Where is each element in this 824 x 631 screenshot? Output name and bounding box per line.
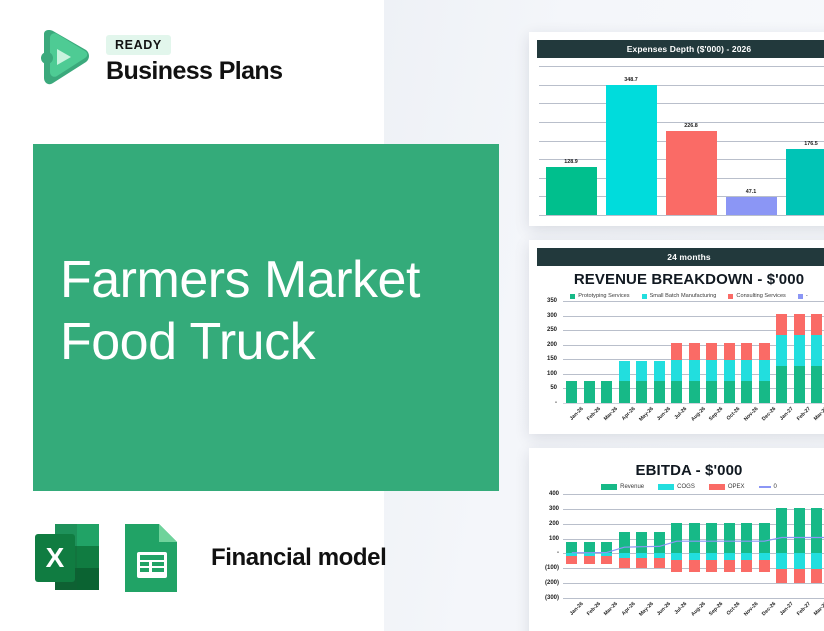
bar-value-label: 128.9 — [564, 159, 578, 165]
x-axis-tick-label: Apr-26 — [621, 601, 637, 617]
x-axis-tick-label: Sep-26 — [708, 406, 724, 422]
bar-segment — [811, 314, 822, 336]
x-axis-tick-label: May-26 — [638, 406, 655, 423]
bar-segment — [706, 553, 717, 560]
bar-segment — [759, 523, 770, 553]
legend-swatch — [759, 486, 771, 488]
legend-item: OPEX — [709, 484, 745, 490]
y-axis-tick-label: (200) — [535, 580, 559, 586]
legend-item: Small Batch Manufacturing — [642, 293, 717, 299]
gridline — [563, 598, 824, 599]
bar — [546, 167, 597, 215]
bar-column: 47.1 — [726, 66, 777, 215]
bar-segment — [619, 361, 630, 381]
legend-label: OPEX — [728, 484, 745, 490]
chart-title-ebitda: EBITDA - $'000 — [529, 462, 824, 479]
bar-column: 176.5 — [786, 66, 824, 215]
bar-value-label: 47.1 — [746, 189, 757, 195]
bar-segment — [671, 343, 682, 360]
bar-column — [759, 301, 770, 403]
svg-text:X: X — [46, 542, 65, 573]
bar-column — [759, 494, 770, 598]
x-axis-tick-label: Jan-26 — [568, 406, 584, 422]
brand-logo-group: READY Business Plans — [30, 28, 282, 90]
bar-segment — [601, 556, 612, 563]
bar-value-label: 348.7 — [624, 77, 638, 83]
bar-segment — [759, 560, 770, 572]
bar-column — [671, 494, 682, 598]
x-axis-tick-label: Mar-27 — [813, 406, 824, 422]
bar-segment — [776, 569, 787, 583]
bar-segment — [776, 335, 787, 365]
x-axis-tick-label: Mar-27 — [813, 601, 824, 617]
gridline — [539, 215, 824, 216]
bar-value-label: 176.5 — [804, 141, 818, 147]
bar-segment — [671, 560, 682, 572]
y-axis-tick-label: 300 — [535, 506, 559, 512]
bar-group: 128.9348.7226.847.1176.5 — [541, 66, 824, 215]
chart-card-ebitda: EBITDA - $'000 RevenueCOGSOPEX0 40030020… — [529, 448, 824, 631]
bar-group — [563, 301, 824, 403]
brand-name: Business Plans — [106, 58, 282, 85]
bar-column — [689, 494, 700, 598]
bar — [606, 85, 657, 215]
bar-segment — [794, 314, 805, 336]
x-axis-tick-label: Feb-26 — [586, 406, 602, 422]
bar-segment — [811, 366, 822, 403]
bar-segment — [741, 553, 752, 560]
bar-column — [794, 301, 805, 403]
legend-item: - — [798, 293, 808, 299]
bar-column — [601, 494, 612, 598]
chart-title-expenses: Expenses Depth ($'000) - 2026 — [537, 40, 824, 58]
bar-column — [584, 301, 595, 403]
bar-segment — [689, 343, 700, 360]
bar-column — [654, 301, 665, 403]
bar-segment — [724, 553, 735, 560]
bar-segment — [724, 560, 735, 572]
x-axis-tick-label: Jan-27 — [778, 406, 794, 422]
bar-segment — [654, 361, 665, 381]
bar-segment — [724, 343, 735, 360]
bar-segment — [741, 360, 752, 380]
bar — [786, 149, 824, 215]
x-axis-tick-label: Aug-26 — [691, 406, 708, 423]
y-axis-tick-label: 50 — [535, 385, 557, 391]
bar-column: 348.7 — [606, 66, 657, 215]
footer-row: X Financial model — [33, 520, 386, 596]
bar-segment — [689, 381, 700, 403]
bar-segment — [636, 558, 647, 568]
plot-area-expenses: 128.9348.7226.847.1176.5 — [535, 66, 824, 221]
chart-card-expenses: Expenses Depth ($'000) - 2026 128.9348.7… — [529, 32, 824, 226]
bar-column — [689, 301, 700, 403]
x-axis-tick-label: Feb-27 — [796, 406, 812, 422]
y-axis-tick-label: 100 — [535, 371, 557, 377]
legend-label: - — [806, 293, 808, 299]
plot-area-revenue: 35030025020015010050-Jan-26Feb-26Mar-26A… — [535, 301, 824, 429]
bar-segment — [741, 560, 752, 572]
legend-item: 0 — [759, 484, 777, 490]
bar-segment — [636, 381, 647, 403]
bar-segment — [794, 335, 805, 365]
legend-label: COGS — [677, 484, 695, 490]
google-sheets-icon — [117, 520, 187, 596]
bar-segment — [759, 343, 770, 360]
bar-segment — [671, 553, 682, 560]
bar-segment — [741, 523, 752, 553]
x-axis-tick-label: Sep-26 — [708, 601, 724, 617]
bar-column — [794, 494, 805, 598]
bar-column — [636, 301, 647, 403]
x-axis-tick-label: Aug-26 — [691, 601, 708, 618]
bar-column — [724, 494, 735, 598]
x-axis-tick-label: Jun-26 — [656, 601, 672, 617]
y-axis-tick-label: 300 — [535, 313, 557, 319]
chart-title-revenue: REVENUE BREAKDOWN - $'000 — [529, 271, 824, 288]
x-axis-tick-label: Jul-26 — [674, 406, 689, 421]
y-axis-tick-label: - — [535, 550, 559, 556]
bar-segment — [601, 381, 612, 403]
x-axis-tick-label: Oct-26 — [726, 601, 742, 617]
y-axis-tick-label: - — [535, 400, 557, 406]
y-axis-tick-label: 150 — [535, 356, 557, 362]
play-triangle-logo-icon — [30, 28, 94, 90]
bar-segment — [671, 360, 682, 380]
bar-column — [706, 301, 717, 403]
axis-baseline — [563, 403, 824, 404]
x-axis-tick-label: Jan-27 — [778, 601, 794, 617]
bar-segment — [636, 361, 647, 381]
bar-segment — [689, 523, 700, 553]
bar-segment — [724, 523, 735, 553]
y-axis-tick-label: (100) — [535, 565, 559, 571]
bar-column — [811, 494, 822, 598]
bar-segment — [776, 508, 787, 553]
page-title: Farmers Market Food Truck — [60, 249, 420, 373]
y-axis-tick-label: 400 — [535, 491, 559, 497]
bar — [666, 131, 717, 215]
bar-segment — [811, 569, 822, 583]
bar-segment — [654, 532, 665, 554]
legend-label: Prototyping Services — [578, 293, 629, 299]
legend-item: Consulting Services — [728, 293, 785, 299]
bar-segment — [584, 381, 595, 403]
bar-segment — [566, 542, 577, 553]
legend-item: Revenue — [601, 484, 644, 490]
bar-segment — [706, 381, 717, 403]
y-axis-tick-label: 200 — [535, 521, 559, 527]
x-axis-tick-label: Feb-27 — [796, 601, 812, 617]
bar-segment — [566, 556, 577, 563]
bar-column — [601, 301, 612, 403]
bar-segment — [706, 560, 717, 572]
chart-legend-ebitda: RevenueCOGSOPEX0 — [529, 484, 824, 490]
x-axis-tick-label: Feb-26 — [586, 601, 602, 617]
bar — [726, 197, 777, 215]
x-axis-tick-label: Dec-26 — [761, 601, 777, 617]
x-axis-tick-label: Mar-26 — [603, 406, 619, 422]
bar-column — [706, 494, 717, 598]
x-axis-tick-label: Jul-26 — [674, 601, 689, 616]
bar-segment — [776, 553, 787, 569]
microsoft-excel-icon: X — [33, 520, 103, 596]
bar-segment — [811, 508, 822, 553]
bar-segment — [689, 553, 700, 560]
bar-segment — [759, 553, 770, 560]
legend-swatch — [798, 294, 803, 299]
bar-segment — [601, 542, 612, 553]
legend-item: COGS — [658, 484, 695, 490]
bar-column — [584, 494, 595, 598]
legend-swatch — [709, 484, 725, 490]
bar-segment — [811, 553, 822, 569]
bar-column — [619, 301, 630, 403]
footer-label: Financial model — [211, 544, 386, 572]
x-axis-tick-label: Apr-26 — [621, 406, 637, 422]
bar-column — [741, 301, 752, 403]
plot-area-ebitda: 400300200100-(100)(200)(300)Jan-26Feb-26… — [535, 494, 824, 626]
bar-column — [671, 301, 682, 403]
bar-segment — [794, 508, 805, 553]
bar-segment — [706, 343, 717, 360]
x-axis-tick-label: Nov-26 — [743, 601, 759, 617]
bar-column — [741, 494, 752, 598]
legend-label: 0 — [774, 484, 777, 490]
brand-text-block: READY Business Plans — [106, 33, 282, 85]
bar-segment — [584, 542, 595, 553]
legend-swatch — [728, 294, 733, 299]
bar-column: 226.8 — [666, 66, 717, 215]
bar-segment — [759, 381, 770, 403]
bar-segment — [794, 553, 805, 569]
y-axis-tick-label: 350 — [535, 298, 557, 304]
x-axis-labels: Jan-26Feb-26Mar-26Apr-26May-26Jun-26Jul-… — [563, 601, 824, 607]
bar-group — [563, 494, 824, 598]
bar-segment — [776, 314, 787, 336]
bar-segment — [619, 381, 630, 403]
bar-segment — [706, 523, 717, 553]
legend-label: Consulting Services — [736, 293, 785, 299]
legend-swatch — [601, 484, 617, 490]
y-axis-tick-label: 250 — [535, 327, 557, 333]
bar-segment — [794, 366, 805, 403]
bar-column — [566, 301, 577, 403]
hero-panel: Farmers Market Food Truck — [33, 144, 499, 491]
bar-segment — [724, 360, 735, 380]
bar-column: 128.9 — [546, 66, 597, 215]
chart-card-revenue: 24 months REVENUE BREAKDOWN - $'000 Prot… — [529, 240, 824, 434]
bar-segment — [724, 381, 735, 403]
legend-swatch — [642, 294, 647, 299]
bar-segment — [741, 343, 752, 360]
bar-segment — [689, 560, 700, 572]
bar-segment — [671, 381, 682, 403]
bar-segment — [566, 381, 577, 403]
bar-segment — [689, 360, 700, 380]
y-axis-tick-label: 200 — [535, 342, 557, 348]
x-axis-tick-label: Jan-26 — [568, 601, 584, 617]
x-axis-tick-label: Dec-26 — [761, 406, 777, 422]
bar-segment — [619, 558, 630, 568]
legend-label: Small Batch Manufacturing — [650, 293, 717, 299]
x-axis-tick-label: Jun-26 — [656, 406, 672, 422]
bar-column — [776, 494, 787, 598]
bar-segment — [776, 366, 787, 403]
bar-column — [636, 494, 647, 598]
bar-column — [724, 301, 735, 403]
legend-item: Prototyping Services — [570, 293, 629, 299]
bar-segment — [811, 335, 822, 365]
bar-segment — [636, 532, 647, 554]
bar-value-label: 226.8 — [684, 123, 698, 129]
bar-segment — [654, 558, 665, 568]
bar-segment — [741, 381, 752, 403]
bar-column — [619, 494, 630, 598]
bar-segment — [619, 532, 630, 554]
y-axis-tick-label: (300) — [535, 595, 559, 601]
legend-label: Revenue — [620, 484, 644, 490]
bar-segment — [706, 360, 717, 380]
chart-legend-revenue: Prototyping ServicesSmall Batch Manufact… — [529, 293, 824, 299]
bar-segment — [671, 523, 682, 553]
bar-segment — [759, 360, 770, 380]
bar-segment — [794, 569, 805, 583]
x-axis-tick-label: May-26 — [638, 601, 655, 618]
x-axis-tick-label: Nov-26 — [743, 406, 759, 422]
slide-canvas: READY Business Plans Farmers Market Food… — [0, 0, 824, 631]
x-axis-tick-label: Oct-26 — [726, 406, 742, 422]
legend-swatch — [570, 294, 575, 299]
chart-band-revenue: 24 months — [537, 248, 824, 266]
bar-segment — [654, 381, 665, 403]
legend-swatch — [658, 484, 674, 490]
x-axis-tick-label: Mar-26 — [603, 601, 619, 617]
bar-column — [654, 494, 665, 598]
bar-column — [811, 301, 822, 403]
ready-badge: READY — [106, 35, 171, 55]
x-axis-labels: Jan-26Feb-26Mar-26Apr-26May-26Jun-26Jul-… — [563, 406, 824, 412]
bar-column — [566, 494, 577, 598]
y-axis-tick-label: 100 — [535, 536, 559, 542]
bar-segment — [584, 556, 595, 563]
bar-column — [776, 301, 787, 403]
